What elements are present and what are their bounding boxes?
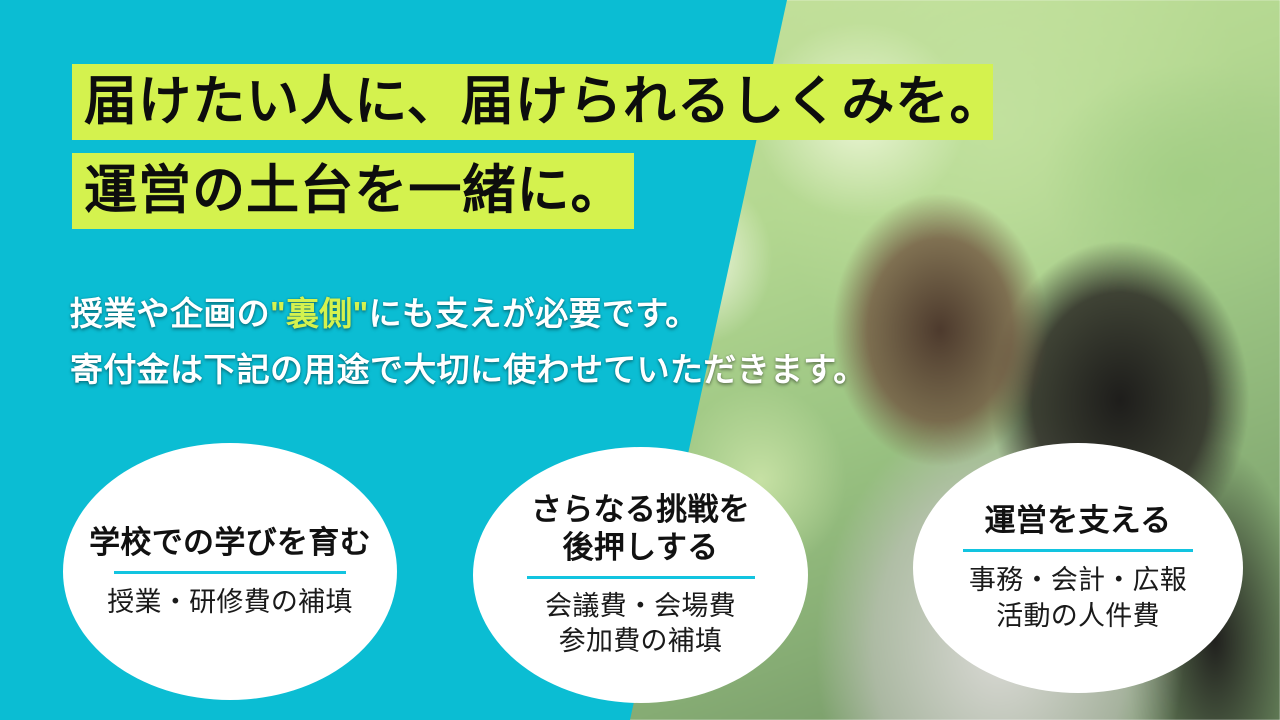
badge-new-challenge: さらなる挑戦を 後押しする 会議費・会場費 参加費の補填 [473,447,808,703]
badge-school-learning: 学校での学びを育む 授業・研修費の補填 [63,443,397,700]
badge-divider [963,549,1193,552]
headline-line-1: 届けたい人に、届けられるしくみを。 [72,64,993,140]
badge-title: 学校での学びを育む [89,524,371,562]
badge-subtext: 授業・研修費の補填 [107,584,352,620]
headline: 届けたい人に、届けられるしくみを。 運営の土台を一緒に。 [72,64,993,229]
badge-title-line: 後押しする [531,529,750,567]
badge-subtext-line: 参加費の補填 [545,624,736,659]
subtitle-line-2: 寄付金は下記の用途で大切に使わせていただきます。 [70,342,867,398]
subtitle: 授業や企画の"裏側"にも支えが必要です。 寄付金は下記の用途で大切に使わせていた… [70,286,867,398]
subtitle-line-1-before: 授業や企画の [70,295,270,332]
banner-canvas: 届けたい人に、届けられるしくみを。 運営の土台を一緒に。 授業や企画の"裏側"に… [0,0,1280,720]
badge-subtext: 事務・会計・広報 活動の人件費 [969,562,1187,634]
badge-divider [114,571,346,574]
subtitle-line-1: 授業や企画の"裏側"にも支えが必要です。 [70,286,867,342]
badge-subtext-line: 事務・会計・広報 [969,562,1187,598]
badge-title: さらなる挑戦を 後押しする [531,491,750,567]
badge-divider [527,576,755,579]
badge-subtext-line: 授業・研修費の補填 [107,584,352,620]
subtitle-line-1-after: にも支えが必要です。 [369,295,699,332]
badge-subtext: 会議費・会場費 参加費の補填 [545,589,736,659]
headline-line-2: 運営の土台を一緒に。 [72,153,634,229]
badge-title-line: さらなる挑戦を [531,491,750,529]
badge-support-operations: 運営を支える 事務・会計・広報 活動の人件費 [913,443,1243,693]
badge-subtext-line: 会議費・会場費 [545,589,736,624]
subtitle-highlight: "裏側" [270,295,369,332]
badge-subtext-line: 活動の人件費 [969,598,1187,634]
badge-title: 運営を支える [985,502,1172,540]
